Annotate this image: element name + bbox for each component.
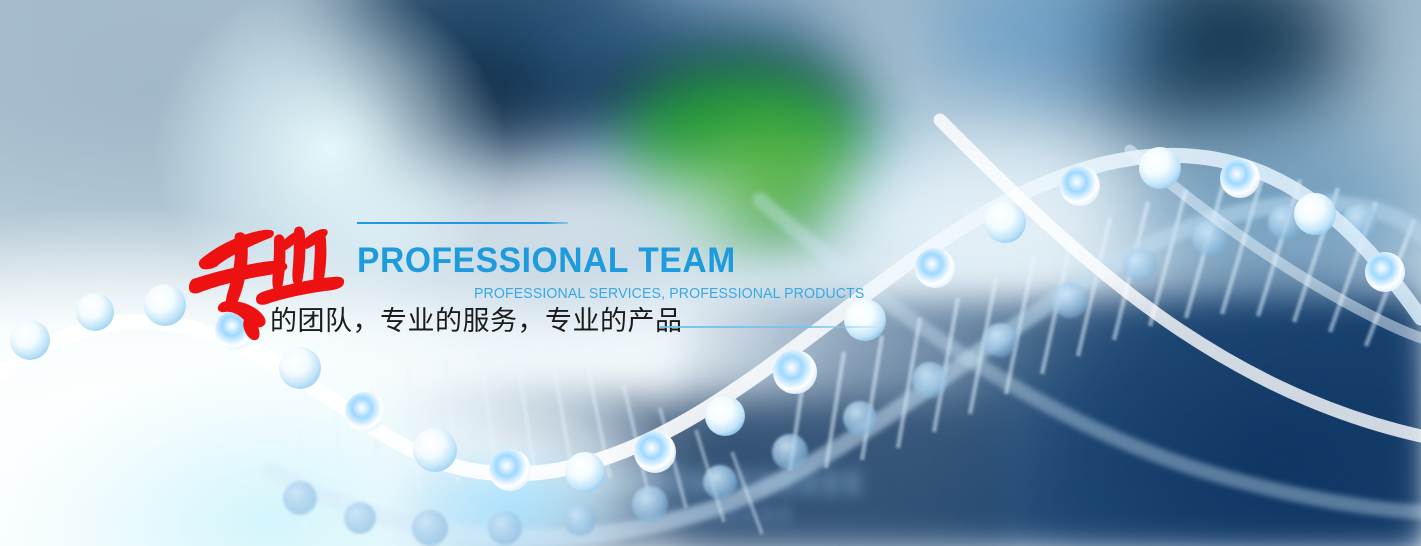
hero-banner: PROFESSIONAL TEAM PROFESSIONAL SERVICES,…	[0, 0, 1421, 546]
hero-headline-block: PROFESSIONAL TEAM PROFESSIONAL SERVICES,…	[0, 0, 1421, 546]
divider-line-bottom	[660, 326, 876, 328]
headline-subtitle-english: PROFESSIONAL SERVICES, PROFESSIONAL PROD…	[474, 286, 864, 301]
headline-slogan-chinese: 的团队，专业的服务，专业的产品	[270, 306, 683, 338]
divider-line-top	[357, 222, 568, 224]
headline-title-english: PROFESSIONAL TEAM	[357, 243, 736, 278]
